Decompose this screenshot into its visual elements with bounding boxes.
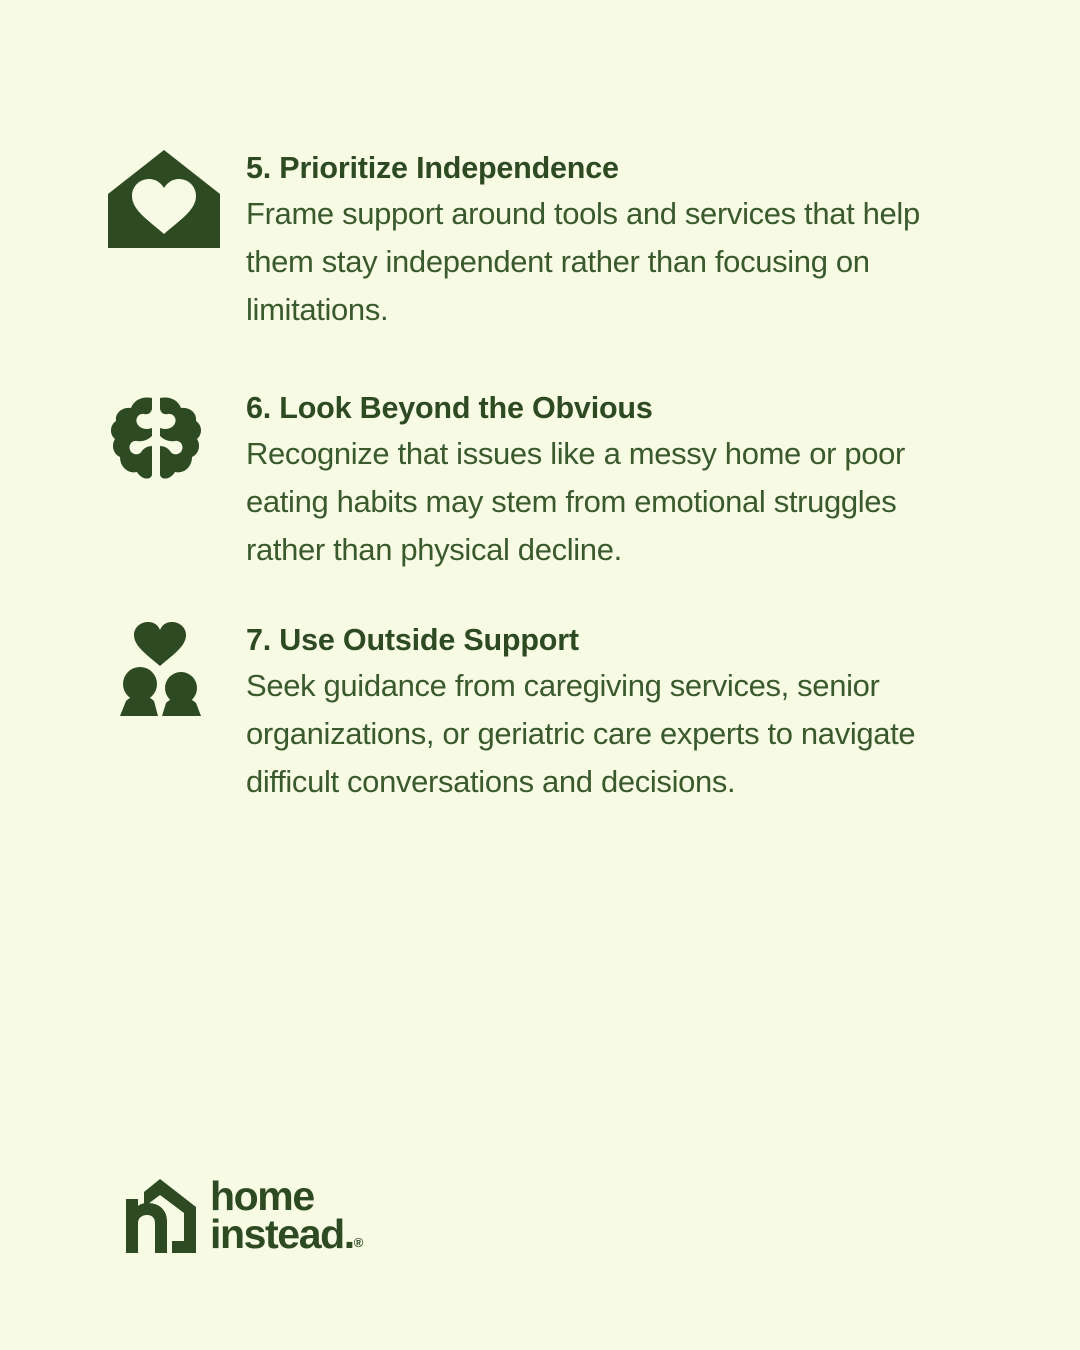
- tip-heading-7: 7. Use Outside Support: [246, 618, 944, 662]
- tip-body-7: 7. Use Outside Support Seek guidance fro…: [226, 618, 944, 806]
- house-heart-icon: [108, 146, 226, 246]
- home-instead-house-icon: [124, 1179, 196, 1253]
- logo-wordmark: home instead.®: [210, 1178, 363, 1253]
- registered-mark: ®: [354, 1235, 364, 1250]
- tip-item-6: 6. Look Beyond the Obvious Recognize tha…: [0, 386, 1080, 574]
- people-heart-icon: [108, 618, 226, 718]
- tip-heading-6: 6. Look Beyond the Obvious: [246, 386, 944, 430]
- tip-item-5: 5. Prioritize Independence Frame support…: [0, 146, 1080, 334]
- tip-text-7: Seek guidance from caregiving services, …: [246, 662, 944, 806]
- home-instead-logo: home instead.®: [124, 1178, 363, 1253]
- tips-list: 5. Prioritize Independence Frame support…: [0, 146, 1080, 806]
- brain-icon: [108, 386, 226, 486]
- tip-text-6: Recognize that issues like a messy home …: [246, 430, 944, 574]
- tip-text-5: Frame support around tools and services …: [246, 190, 944, 334]
- poster-canvas: 5. Prioritize Independence Frame support…: [0, 0, 1080, 1350]
- tip-item-7: 7. Use Outside Support Seek guidance fro…: [0, 618, 1080, 806]
- logo-instead-text: instead.: [210, 1211, 354, 1257]
- logo-line-instead: instead.®: [210, 1216, 363, 1254]
- tip-body-6: 6. Look Beyond the Obvious Recognize tha…: [226, 386, 944, 574]
- tip-body-5: 5. Prioritize Independence Frame support…: [226, 146, 944, 334]
- tip-heading-5: 5. Prioritize Independence: [246, 146, 944, 190]
